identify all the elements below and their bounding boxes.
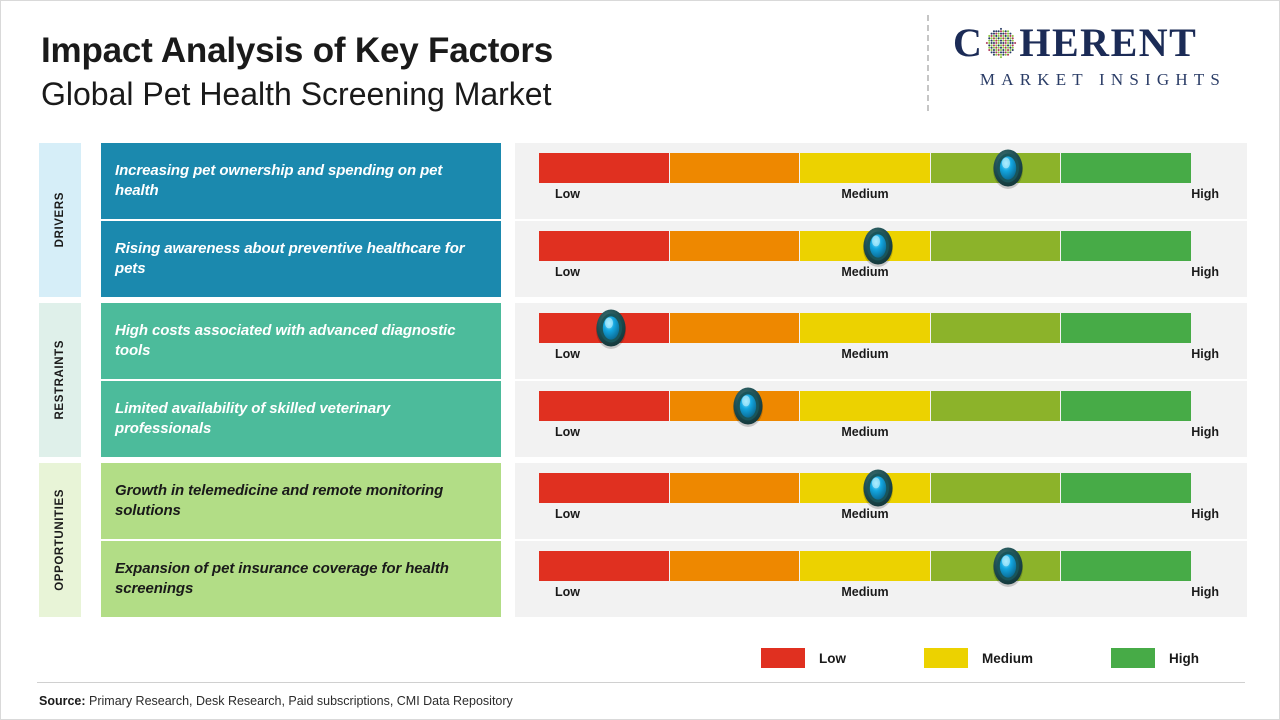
scale-label-low: Low: [555, 187, 580, 201]
source-label: Source:: [39, 694, 86, 708]
footer-divider: [37, 682, 1245, 683]
gauge-segment-5: [1061, 231, 1191, 261]
factor-row: Rising awareness about preventive health…: [39, 221, 1247, 297]
gauge-bar: [539, 391, 1191, 421]
gauge-bar: [539, 473, 1191, 503]
brand-logo: C HERENT MARKET INSIGHTS: [927, 15, 1257, 111]
gauge-segment-3: [800, 473, 931, 503]
scale-label-high: High: [1191, 265, 1219, 279]
factor-statement-text: Expansion of pet insurance coverage for …: [115, 559, 487, 599]
gauge-segment-1: [539, 231, 670, 261]
factor-statement-text: Rising awareness about preventive health…: [115, 239, 487, 279]
gauge-segment-2: [670, 473, 801, 503]
page-title: Impact Analysis of Key Factors Global Pe…: [41, 31, 553, 114]
legend: LowMediumHigh: [761, 645, 1201, 671]
logo-divider: [927, 15, 929, 111]
impact-gauge: LowMediumHigh: [515, 143, 1247, 219]
factor-statement: Increasing pet ownership and spending on…: [101, 143, 501, 219]
gauge-segment-1: [539, 473, 670, 503]
scale-label-high: High: [1191, 585, 1219, 599]
factor-row: High costs associated with advanced diag…: [39, 303, 1247, 379]
scale-label-medium: Medium: [841, 507, 888, 521]
scale-label-medium: Medium: [841, 265, 888, 279]
factor-statement: High costs associated with advanced diag…: [101, 303, 501, 379]
scale-label-medium: Medium: [841, 585, 888, 599]
impact-gauge: LowMediumHigh: [515, 381, 1247, 457]
legend-label: Low: [819, 651, 846, 666]
factor-statement: Growth in telemedicine and remote monito…: [101, 463, 501, 539]
gauge-bar: [539, 551, 1191, 581]
legend-label: High: [1169, 651, 1199, 666]
gauge-segment-5: [1061, 551, 1191, 581]
gauge-scale-labels: LowMediumHigh: [539, 347, 1191, 367]
legend-label: Medium: [982, 651, 1033, 666]
gauge-segment-4: [931, 391, 1062, 421]
scale-label-high: High: [1191, 187, 1219, 201]
factor-statement-text: Growth in telemedicine and remote monito…: [115, 481, 487, 521]
scale-label-high: High: [1191, 507, 1219, 521]
gauge-scale-labels: LowMediumHigh: [539, 507, 1191, 527]
slide-canvas: Impact Analysis of Key Factors Global Pe…: [0, 0, 1280, 720]
scale-label-medium: Medium: [841, 425, 888, 439]
gauge-segment-1: [539, 551, 670, 581]
factor-statement-text: Increasing pet ownership and spending on…: [115, 161, 487, 201]
title-main: Impact Analysis of Key Factors: [41, 31, 553, 70]
scale-label-low: Low: [555, 585, 580, 599]
gauge-segment-5: [1061, 391, 1191, 421]
gauge-segment-3: [800, 551, 931, 581]
gauge-bar: [539, 313, 1191, 343]
legend-swatch-low: [761, 648, 805, 668]
scale-label-medium: Medium: [841, 187, 888, 201]
gauge-segment-4: [931, 153, 1062, 183]
legend-swatch-medium: [924, 648, 968, 668]
gauge-segment-4: [931, 313, 1062, 343]
globe-dots-icon: [984, 26, 1018, 60]
factor-row: Limited availability of skilled veterina…: [39, 381, 1247, 457]
gauge-segment-5: [1061, 153, 1191, 183]
legend-item: Medium: [924, 648, 1033, 668]
factor-row: Expansion of pet insurance coverage for …: [39, 541, 1247, 617]
legend-item: High: [1111, 648, 1199, 668]
gauge-segment-3: [800, 153, 931, 183]
legend-swatch-high: [1111, 648, 1155, 668]
gauge-segment-4: [931, 231, 1062, 261]
scale-label-low: Low: [555, 265, 580, 279]
title-subtitle: Global Pet Health Screening Market: [41, 76, 553, 114]
gauge-segment-2: [670, 551, 801, 581]
gauge-segment-3: [800, 313, 931, 343]
impact-gauge: LowMediumHigh: [515, 221, 1247, 297]
gauge-segment-1: [539, 391, 670, 421]
logo-letters-rest: HERENT: [1019, 23, 1197, 63]
gauge-segment-1: [539, 313, 670, 343]
scale-label-low: Low: [555, 347, 580, 361]
scale-label-medium: Medium: [841, 347, 888, 361]
gauge-segment-1: [539, 153, 670, 183]
gauge-segment-5: [1061, 473, 1191, 503]
gauge-segment-2: [670, 231, 801, 261]
gauge-segment-3: [800, 391, 931, 421]
gauge-segment-4: [931, 551, 1062, 581]
factor-statement: Expansion of pet insurance coverage for …: [101, 541, 501, 617]
gauge-scale-labels: LowMediumHigh: [539, 265, 1191, 285]
scale-label-low: Low: [555, 425, 580, 439]
source-note: Source: Primary Research, Desk Research,…: [39, 694, 513, 708]
gauge-segment-2: [670, 391, 801, 421]
gauge-segment-4: [931, 473, 1062, 503]
logo-letter-c: C: [953, 23, 983, 63]
factor-row: Growth in telemedicine and remote monito…: [39, 463, 1247, 539]
gauge-bar: [539, 153, 1191, 183]
gauge-segment-3: [800, 231, 931, 261]
logo-wordmark: C HERENT: [953, 23, 1253, 63]
logo-tagline: MARKET INSIGHTS: [953, 70, 1253, 90]
gauge-scale-labels: LowMediumHigh: [539, 585, 1191, 605]
legend-item: Low: [761, 648, 846, 668]
gauge-bar: [539, 231, 1191, 261]
source-text: Primary Research, Desk Research, Paid su…: [86, 694, 513, 708]
factor-statement: Limited availability of skilled veterina…: [101, 381, 501, 457]
factor-row: Increasing pet ownership and spending on…: [39, 143, 1247, 219]
factor-statement: Rising awareness about preventive health…: [101, 221, 501, 297]
scale-label-high: High: [1191, 425, 1219, 439]
scale-label-high: High: [1191, 347, 1219, 361]
gauge-segment-2: [670, 153, 801, 183]
factor-statement-text: High costs associated with advanced diag…: [115, 321, 487, 361]
gauge-scale-labels: LowMediumHigh: [539, 425, 1191, 445]
gauge-scale-labels: LowMediumHigh: [539, 187, 1191, 207]
factor-statement-text: Limited availability of skilled veterina…: [115, 399, 487, 439]
impact-gauge: LowMediumHigh: [515, 463, 1247, 539]
gauge-segment-2: [670, 313, 801, 343]
gauge-segment-5: [1061, 313, 1191, 343]
impact-gauge: LowMediumHigh: [515, 303, 1247, 379]
impact-gauge: LowMediumHigh: [515, 541, 1247, 617]
scale-label-low: Low: [555, 507, 580, 521]
